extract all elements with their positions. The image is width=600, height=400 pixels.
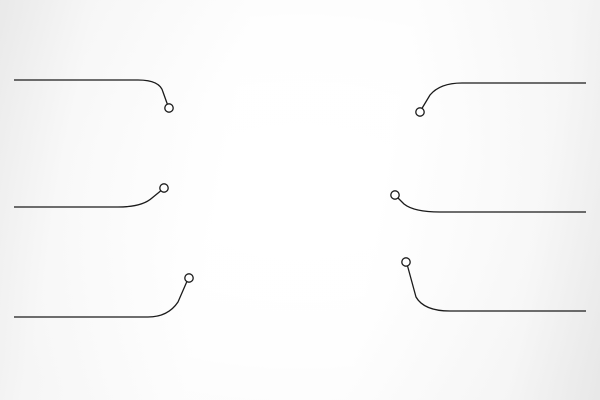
- connector-gehard-glas: [14, 80, 168, 106]
- connector-geslepen-randen: [14, 279, 188, 317]
- connector-mecanism-silentios: [396, 196, 586, 212]
- connector-distantier-spuma: [407, 264, 586, 311]
- connector-dot-hoogwaardige-print: [160, 184, 168, 192]
- connector-dot-geslepen-randen: [185, 274, 193, 282]
- connector-dot-distantier-spuma: [402, 258, 410, 266]
- connector-dot-mecanism-silentios: [391, 191, 399, 199]
- infographic-canvas: GEHARD GLAS Bestand tegen breuk en krass…: [0, 0, 600, 400]
- connector-lines: [0, 0, 600, 400]
- connector-manere-metalice: [421, 83, 586, 110]
- connector-hoogwaardige-print: [14, 189, 163, 207]
- connector-dot-manere-metalice: [416, 108, 424, 116]
- connector-dot-gehard-glas: [165, 104, 173, 112]
